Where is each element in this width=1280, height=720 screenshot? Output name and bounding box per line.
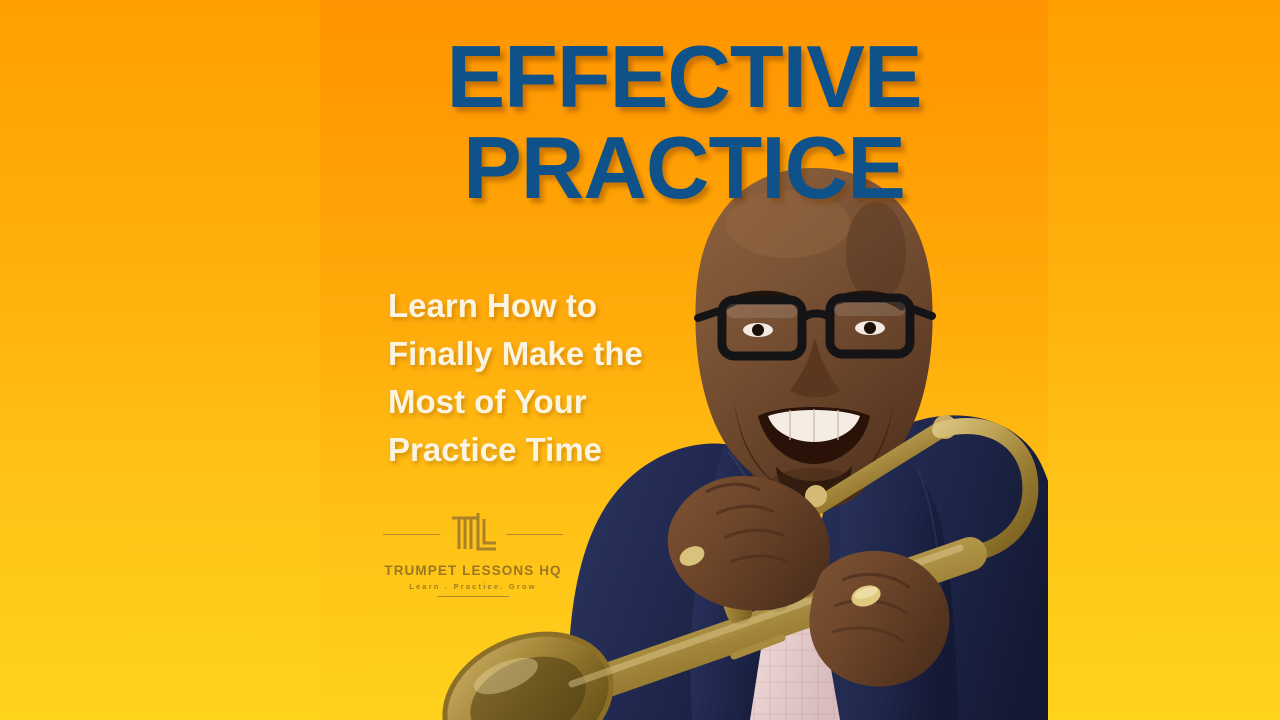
inner-panel-background xyxy=(320,0,1048,720)
logo-mark-row xyxy=(383,508,563,560)
brand-logo: TRUMPET LESSONS HQ Learn . Practice. Gro… xyxy=(383,508,563,597)
logo-rule-right xyxy=(506,534,563,535)
logo-tagline: Learn . Practice. Grow xyxy=(383,582,563,591)
thumbnail-canvas: EFFECTIVE PRACTICE Learn How to Finally … xyxy=(0,0,1280,720)
logo-rule-left xyxy=(383,534,440,535)
logo-wordmark: TRUMPET LESSONS HQ xyxy=(383,563,563,578)
tl-monogram-icon xyxy=(446,509,500,559)
logo-underline xyxy=(437,596,509,597)
